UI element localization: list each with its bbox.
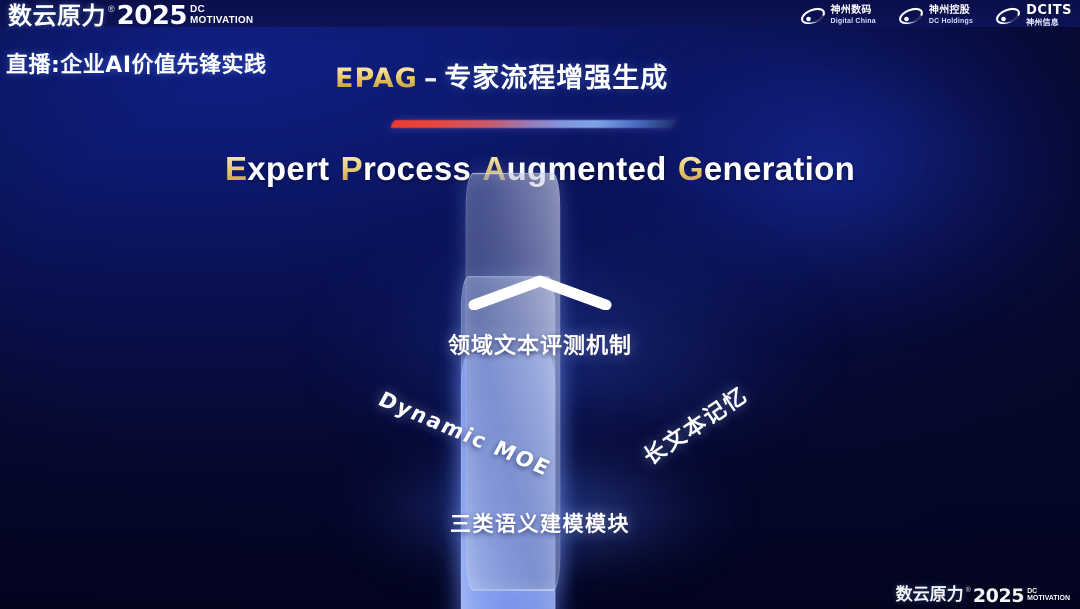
event-logo-brand: 数云原力 bbox=[8, 4, 106, 28]
page-title-dash: – bbox=[424, 63, 439, 94]
brand-name-cn: 神州控股 bbox=[929, 6, 973, 16]
brand-name-cn: DCITS bbox=[1026, 4, 1072, 17]
watermark-dc: DC bbox=[1027, 588, 1070, 595]
event-logo: 数云原力 ® 2025 DC MOTIVATION bbox=[8, 4, 253, 29]
brand-digital-china-text: 神州数码 Digital China bbox=[831, 6, 876, 25]
watermark-year: 2025 bbox=[973, 587, 1024, 605]
brand-name-en: 神州信息 bbox=[1026, 19, 1072, 27]
english-word-generation: Generation bbox=[678, 150, 855, 187]
english-rest: eneration bbox=[704, 150, 855, 187]
swirl-logo-icon bbox=[800, 6, 826, 26]
brand-name-en: Digital China bbox=[831, 18, 876, 25]
english-word-expert: Expert bbox=[225, 150, 330, 187]
brand-dcits-text: DCITS 神州信息 bbox=[1026, 4, 1072, 27]
english-initial: E bbox=[225, 150, 247, 187]
event-logo-motivation-word: MOTIVATION bbox=[190, 15, 253, 26]
registered-mark-icon: ® bbox=[966, 587, 971, 594]
english-initial: G bbox=[678, 150, 704, 187]
registered-mark-icon: ® bbox=[108, 5, 115, 14]
corporate-logo-group: 神州数码 Digital China 神州控股 DC Holdings bbox=[800, 4, 1073, 27]
footer-watermark: 数云原力 ® 2025 DC MOTIVATION bbox=[896, 587, 1070, 605]
brand-name-cn: 神州数码 bbox=[831, 6, 876, 16]
english-rest: xpert bbox=[247, 150, 329, 187]
watermark-brand: 数云原力 bbox=[896, 587, 964, 604]
swirl-logo-icon bbox=[995, 6, 1021, 26]
swirl-logo-icon bbox=[898, 6, 924, 26]
livestream-subtitle: 直播:企业AI价值先锋实践 bbox=[6, 47, 267, 79]
brand-name-en: DC Holdings bbox=[929, 18, 973, 25]
brand-dc-holdings-text: 神州控股 DC Holdings bbox=[929, 6, 973, 25]
slide-canvas: 数云原力 ® 2025 DC MOTIVATION 直播:企业AI价值先锋实践 … bbox=[0, 0, 1080, 609]
brand-digital-china: 神州数码 Digital China bbox=[800, 6, 876, 26]
page-title-acronym: EPAG bbox=[335, 63, 418, 94]
stack-layer-top-plate bbox=[466, 173, 560, 591]
brand-dcits: DCITS 神州信息 bbox=[995, 4, 1072, 27]
event-logo-year: 2025 bbox=[117, 4, 187, 29]
watermark-motivation: DC MOTIVATION bbox=[1027, 588, 1070, 603]
brand-dc-holdings: 神州控股 DC Holdings bbox=[898, 6, 973, 26]
english-initial: P bbox=[341, 150, 363, 187]
event-logo-dc: DC bbox=[190, 5, 253, 15]
watermark-motivation-word: MOTIVATION bbox=[1027, 595, 1070, 603]
event-logo-motivation: DC MOTIVATION bbox=[190, 5, 253, 26]
layer-stack-diagram: 领域文本评测机制 Dynamic MOE 长文本记忆 三类语义建模模块 bbox=[0, 226, 1080, 566]
